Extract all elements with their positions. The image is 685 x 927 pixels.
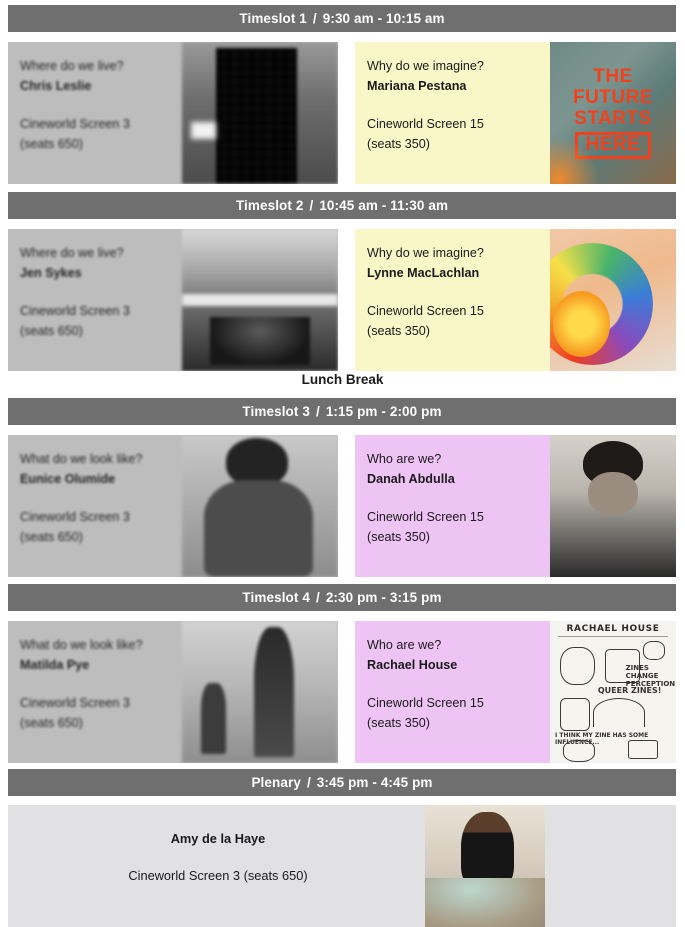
- separator: /: [301, 775, 317, 790]
- plenary-header: Plenary / 3:45 pm - 4:45 pm: [8, 769, 676, 796]
- session-venue: Cineworld Screen 3: [20, 693, 182, 713]
- spacer: [20, 490, 182, 507]
- plenary-time: 3:45 pm - 4:45 pm: [317, 775, 433, 790]
- poster-line-1: THE: [593, 67, 633, 88]
- timeslot-time: 1:15 pm - 2:00 pm: [326, 404, 442, 419]
- separator: /: [303, 198, 319, 213]
- session-venue: Cineworld Screen 3: [20, 114, 182, 134]
- timeslot-time: 10:45 am - 11:30 am: [319, 198, 448, 213]
- session-speaker: Mariana Pestana: [367, 76, 550, 96]
- spacer: [20, 284, 182, 301]
- session-seats: (seats 350): [367, 134, 550, 154]
- session-question: Why do we imagine?: [367, 243, 550, 263]
- plenary-name: Plenary: [251, 775, 300, 790]
- timeslot-header-4: Timeslot 4 / 2:30 pm - 3:15 pm: [8, 584, 676, 611]
- spacer: [20, 97, 182, 114]
- poster-line-2: FUTURE: [573, 88, 653, 109]
- session-speaker: Chris Leslie: [20, 76, 182, 96]
- session-details: Why do we imagine? Mariana Pestana Cinew…: [355, 42, 550, 184]
- session-row-1: Where do we live? Chris Leslie Cineworld…: [0, 42, 685, 184]
- timeslot-header-3: Timeslot 3 / 1:15 pm - 2:00 pm: [8, 398, 676, 425]
- session-image-street-from-car-photo: [182, 229, 338, 371]
- session-venue: Cineworld Screen 15: [367, 301, 550, 321]
- session-speaker: Rachael House: [367, 655, 550, 675]
- timeslot-name: Timeslot 2: [236, 198, 304, 213]
- session-image-smiling-portrait-photo: [550, 435, 676, 577]
- session-image-the-future-starts-here-poster: THE FUTURE STARTS HERE: [550, 42, 676, 184]
- sketch-word-2: QUEER ZINES!: [598, 686, 662, 695]
- session-question: Where do we live?: [20, 243, 182, 263]
- session-venue: Cineworld Screen 15: [367, 114, 550, 134]
- session-details: Where do we live? Jen Sykes Cineworld Sc…: [8, 229, 182, 371]
- separator: /: [310, 590, 326, 605]
- timeslot-name: Timeslot 3: [242, 404, 310, 419]
- session-venue: Cineworld Screen 3: [20, 507, 182, 527]
- spacer: [367, 676, 550, 693]
- session-seats: (seats 350): [367, 713, 550, 733]
- plenary-details: Amy de la Haye Cineworld Screen 3 (seats…: [8, 805, 428, 887]
- session-image-model-figure-photo: [182, 435, 338, 577]
- session-details: Who are we? Danah Abdulla Cineworld Scre…: [355, 435, 550, 577]
- session-venue: Cineworld Screen 15: [367, 507, 550, 527]
- timeslot-header-2: Timeslot 2 / 10:45 am - 11:30 am: [8, 192, 676, 219]
- session-details: Why do we imagine? Lynne MacLachlan Cine…: [355, 229, 550, 371]
- sketch-title: RACHAEL HOUSE: [550, 624, 676, 634]
- session-card-right-4[interactable]: Who are we? Rachael House Cineworld Scre…: [355, 621, 676, 763]
- session-question: Why do we imagine?: [367, 56, 550, 76]
- spacer: [367, 284, 550, 301]
- timeslot-time: 9:30 am - 10:15 am: [323, 11, 445, 26]
- poster-line-boxed: HERE: [575, 132, 652, 159]
- session-venue: Cineworld Screen 3: [20, 301, 182, 321]
- session-speaker: Danah Abdulla: [367, 469, 550, 489]
- session-card-left-4[interactable]: What do we look like? Matilda Pye Cinewo…: [8, 621, 338, 763]
- plenary-image-amy-de-la-haye-textiles-photo: [425, 805, 545, 927]
- timeslot-name: Timeslot 1: [239, 11, 307, 26]
- session-row-2: Where do we live? Jen Sykes Cineworld Sc…: [0, 229, 685, 371]
- session-seats: (seats 350): [367, 527, 550, 547]
- session-seats: (seats 350): [367, 321, 550, 341]
- session-details: What do we look like? Eunice Olumide Cin…: [8, 435, 182, 577]
- session-seats: (seats 650): [20, 527, 182, 547]
- session-question: What do we look like?: [20, 449, 182, 469]
- timeslot-time: 2:30 pm - 3:15 pm: [326, 590, 442, 605]
- session-card-left-2[interactable]: Where do we live? Jen Sykes Cineworld Sc…: [8, 229, 338, 371]
- lunch-break-label: Lunch Break: [0, 372, 685, 387]
- plenary-speaker: Amy de la Haye: [8, 829, 428, 849]
- plenary-card[interactable]: Amy de la Haye Cineworld Screen 3 (seats…: [8, 805, 676, 927]
- session-details: Who are we? Rachael House Cineworld Scre…: [355, 621, 550, 763]
- sketch-word-1: ZINES CHANGE PERCEPTION: [626, 664, 676, 688]
- session-question: What do we look like?: [20, 635, 182, 655]
- timeslot-name: Timeslot 4: [242, 590, 310, 605]
- poster-line-3: STARTS: [574, 109, 652, 130]
- spacer: [367, 97, 550, 114]
- session-venue: Cineworld Screen 15: [367, 693, 550, 713]
- session-question: Where do we live?: [20, 56, 182, 76]
- plenary-venue: Cineworld Screen 3 (seats 650): [8, 866, 428, 886]
- session-image-rachael-house-zine-sketch: RACHAEL HOUSE ZINES CHANGE PERCEPTION QU…: [550, 621, 676, 763]
- separator: /: [310, 404, 326, 419]
- session-speaker: Jen Sykes: [20, 263, 182, 283]
- session-row-3: What do we look like? Eunice Olumide Cin…: [0, 435, 685, 577]
- session-speaker: Eunice Olumide: [20, 469, 182, 489]
- spacer: [20, 676, 182, 693]
- session-image-high-rise-tower-photo: [182, 42, 338, 184]
- spacer: [367, 490, 550, 507]
- session-seats: (seats 650): [20, 321, 182, 341]
- session-card-right-1[interactable]: Why do we imagine? Mariana Pestana Cinew…: [355, 42, 676, 184]
- session-seats: (seats 650): [20, 713, 182, 733]
- conference-schedule: Timeslot 1 / 9:30 am - 10:15 am Where do…: [0, 0, 685, 927]
- session-question: Who are we?: [367, 449, 550, 469]
- session-card-right-3[interactable]: Who are we? Danah Abdulla Cineworld Scre…: [355, 435, 676, 577]
- separator: /: [307, 11, 323, 26]
- session-details: Where do we live? Chris Leslie Cineworld…: [8, 42, 182, 184]
- session-row-4: What do we look like? Matilda Pye Cinewo…: [0, 621, 685, 763]
- session-image-rainbow-fan-headpiece-photo: [550, 229, 676, 371]
- session-card-left-1[interactable]: Where do we live? Chris Leslie Cineworld…: [8, 42, 338, 184]
- session-card-right-2[interactable]: Why do we imagine? Lynne MacLachlan Cine…: [355, 229, 676, 371]
- session-speaker: Matilda Pye: [20, 655, 182, 675]
- session-image-robed-figure-crowd-photo: [182, 621, 338, 763]
- session-speaker: Lynne MacLachlan: [367, 263, 550, 283]
- spacer: [8, 849, 428, 866]
- session-question: Who are we?: [367, 635, 550, 655]
- session-seats: (seats 650): [20, 134, 182, 154]
- session-card-left-3[interactable]: What do we look like? Eunice Olumide Cin…: [8, 435, 338, 577]
- session-details: What do we look like? Matilda Pye Cinewo…: [8, 621, 182, 763]
- timeslot-header-1: Timeslot 1 / 9:30 am - 10:15 am: [8, 5, 676, 32]
